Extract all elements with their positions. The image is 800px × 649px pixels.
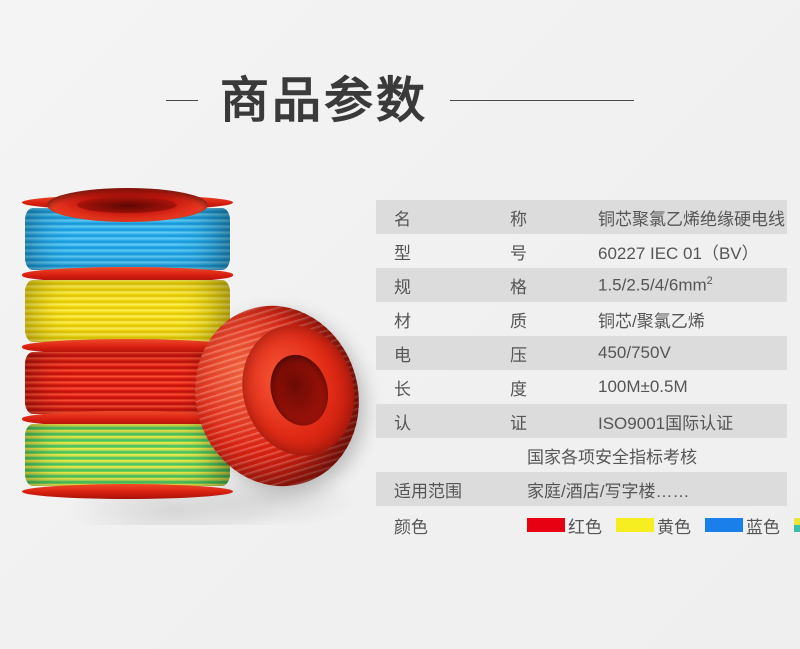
green-coil-rim-bottom xyxy=(22,484,233,499)
color-swatch-blue xyxy=(705,518,743,532)
row-label-specification: 规格 xyxy=(394,273,598,298)
green-coil-wire xyxy=(25,424,230,486)
row-label-material: 材质 xyxy=(394,307,598,332)
product-spec-page: 商品参数 xyxy=(0,0,800,649)
spool-hub xyxy=(47,188,208,222)
table-row-application-scope: 适用范围 家庭/酒店/写字楼…… xyxy=(376,472,787,506)
row-value-certification-continued: 国家各项安全指标考核 xyxy=(527,443,697,468)
row-value-specification-superscript: 2 xyxy=(707,275,713,287)
color-swatch-yellow xyxy=(616,518,654,532)
title-rule-right xyxy=(450,100,634,101)
color-label-blue: 蓝色 xyxy=(746,513,780,538)
row-label-length: 长度 xyxy=(394,375,598,400)
row-value-specification: 1.5/2.5/4/6mm2 xyxy=(598,275,713,296)
color-label-red: 红色 xyxy=(568,513,602,538)
row-label-certification: 认证 xyxy=(394,409,598,434)
row-label-color: 颜色 xyxy=(394,513,527,538)
table-row-name: 名称 铜芯聚氯乙烯绝缘硬电线 xyxy=(376,200,787,234)
row-value-voltage: 450/750V xyxy=(598,343,671,363)
green-coil xyxy=(25,418,230,492)
row-value-application-scope: 家庭/酒店/写字楼…… xyxy=(527,477,689,502)
table-row-specification: 规格 1.5/2.5/4/6mm2 xyxy=(376,268,787,302)
spec-table: 名称 铜芯聚氯乙烯绝缘硬电线 型号 60227 IEC 01（BV） 规格 1.… xyxy=(376,200,787,544)
row-value-material: 铜芯/聚氯乙烯 xyxy=(598,307,705,332)
row-label-name: 名称 xyxy=(394,205,598,230)
table-row-length: 长度 100M±0.5M xyxy=(376,370,787,404)
row-value-specification-text: 1.5/2.5/4/6mm xyxy=(598,275,707,294)
table-row-certification: 认证 ISO9001国际认证 xyxy=(376,404,787,438)
row-label-model: 型号 xyxy=(394,239,598,264)
row-value-length: 100M±0.5M xyxy=(598,377,688,397)
product-image xyxy=(0,180,360,525)
table-row-voltage: 电压 450/750V xyxy=(376,336,787,370)
row-label-application-scope: 适用范围 xyxy=(394,477,527,502)
color-item-dual: 双色 xyxy=(794,513,800,538)
page-title: 商品参数 xyxy=(220,76,428,125)
page-title-block: 商品参数 xyxy=(0,60,800,140)
color-swatch-red xyxy=(527,518,565,532)
color-item-yellow: 黄色 xyxy=(616,513,691,538)
row-value-name: 铜芯聚氯乙烯绝缘硬电线 xyxy=(598,205,785,230)
color-label-yellow: 黄色 xyxy=(657,513,691,538)
color-item-blue: 蓝色 xyxy=(705,513,780,538)
table-row-material: 材质 铜芯/聚氯乙烯 xyxy=(376,302,787,336)
table-row-certification-continued: 国家各项安全指标考核 xyxy=(376,438,787,472)
row-label-voltage: 电压 xyxy=(394,341,598,366)
color-item-red: 红色 xyxy=(527,513,602,538)
color-swatch-dual xyxy=(794,518,800,532)
table-row-color: 颜色 红色 黄色 蓝色 双色 xyxy=(376,506,787,544)
title-rule-left xyxy=(166,100,198,101)
table-row-model: 型号 60227 IEC 01（BV） xyxy=(376,234,787,268)
color-swatch-list: 红色 黄色 蓝色 双色 xyxy=(527,513,800,538)
row-value-certification: ISO9001国际认证 xyxy=(598,409,733,434)
row-value-model: 60227 IEC 01（BV） xyxy=(598,239,759,264)
